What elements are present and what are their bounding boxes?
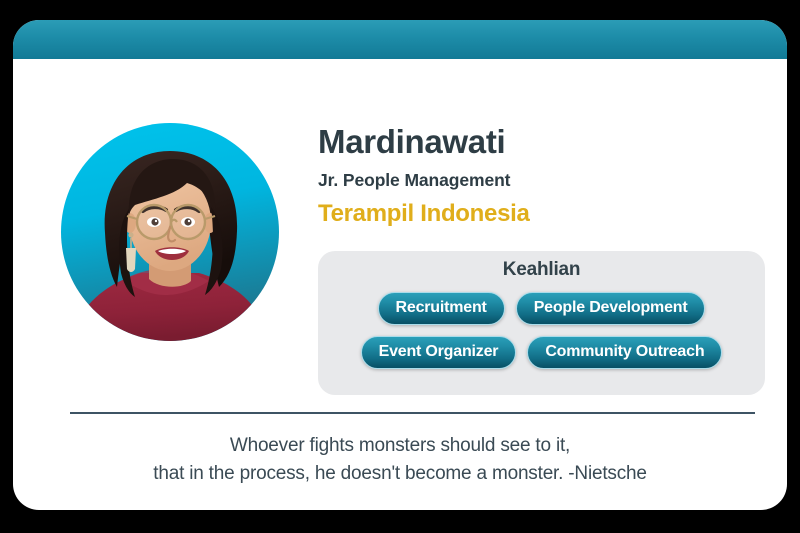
skill-pill[interactable]: Event Organizer <box>361 336 517 369</box>
quote-line-2: that in the process, he doesn't become a… <box>13 460 787 488</box>
avatar <box>61 123 279 341</box>
avatar-portrait-illustration <box>61 123 279 341</box>
profile-card: Mardinawati Jr. People Management Teramp… <box>13 20 787 510</box>
card-divider <box>70 412 755 414</box>
skill-pill[interactable]: People Development <box>516 292 706 325</box>
skills-row-2: Event Organizer Community Outreach <box>318 336 765 369</box>
person-company: Terampil Indonesia <box>318 200 768 228</box>
card-top-banner <box>13 20 787 59</box>
person-name: Mardinawati <box>318 124 768 160</box>
skills-row-1: Recruitment People Development <box>318 292 765 325</box>
skills-panel: Keahlian Recruitment People Development … <box>318 251 765 395</box>
person-role: Jr. People Management <box>318 170 768 191</box>
identity-block: Mardinawati Jr. People Management Teramp… <box>318 124 768 228</box>
skill-pill[interactable]: Community Outreach <box>527 336 722 369</box>
skills-heading: Keahlian <box>318 259 765 281</box>
skill-pill[interactable]: Recruitment <box>378 292 505 325</box>
quote-line-1: Whoever fights monsters should see to it… <box>13 432 787 460</box>
quote-block: Whoever fights monsters should see to it… <box>13 432 787 488</box>
